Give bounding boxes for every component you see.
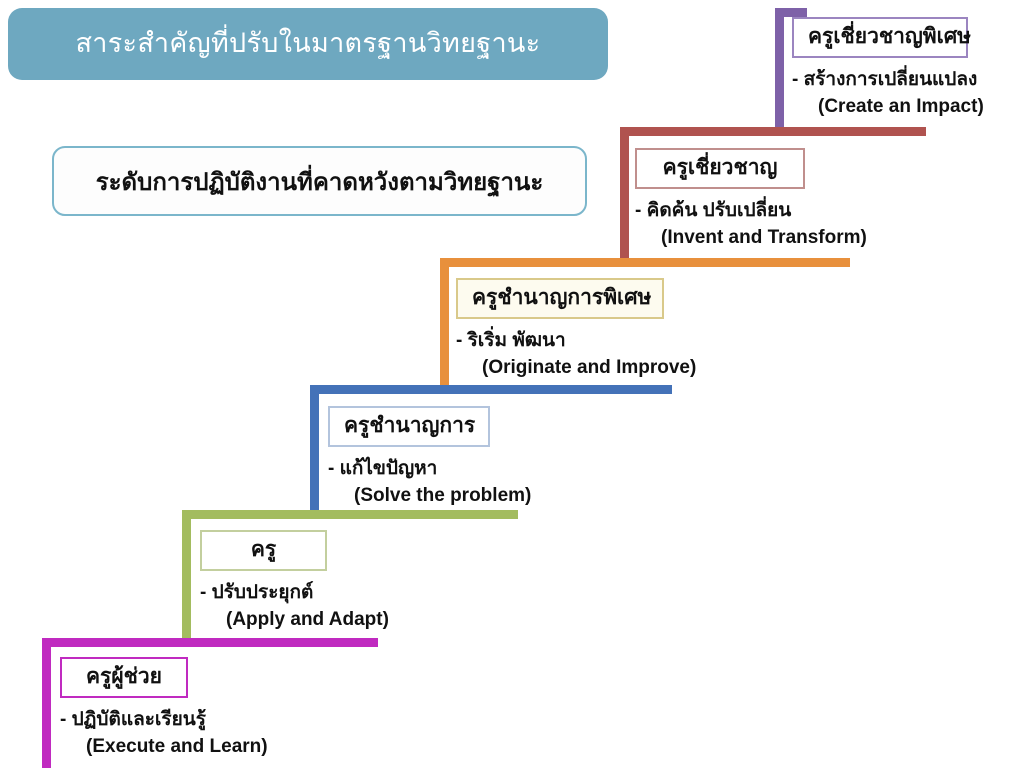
level-chip-2[interactable]: ครู <box>200 530 327 571</box>
page-title: สาระสำคัญที่ปรับในมาตรฐานวิทยฐานะ <box>76 28 541 59</box>
level-block-5: ครูเชี่ยวชาญ - คิดค้น ปรับเปลี่ยน (Inven… <box>635 148 867 252</box>
level-chip-3[interactable]: ครูชำนาญการ <box>328 406 490 447</box>
level-thai-desc-5: - คิดค้น ปรับเปลี่ยน <box>635 198 867 225</box>
step-riser-level-3 <box>310 385 319 515</box>
level-chip-label-1: ครูผู้ช่วย <box>86 665 162 688</box>
level-description-1: - ปฏิบัติและเรียนรู้ (Execute and Learn) <box>60 707 268 761</box>
slide-canvas: สาระสำคัญที่ปรับในมาตรฐานวิทยฐานะ ระดับก… <box>0 0 1024 768</box>
level-block-4: ครูชำนาญการพิเศษ - ริเริ่ม พัฒนา (Origin… <box>456 278 696 382</box>
level-english-desc-6: (Create an Impact) <box>792 94 984 121</box>
step-tread-level-5 <box>620 127 926 136</box>
level-chip-label-2: ครู <box>251 538 276 561</box>
level-description-6: - สร้างการเปลี่ยนแปลง (Create an Impact) <box>792 67 984 121</box>
step-tread-level-1 <box>42 638 378 647</box>
level-thai-desc-2: - ปรับประยุกต์ <box>200 580 389 607</box>
level-description-3: - แก้ไขปัญหา (Solve the problem) <box>328 456 531 510</box>
level-chip-label-6: ครูเชี่ยวชาญพิเศษ <box>808 25 971 48</box>
level-block-6: ครูเชี่ยวชาญพิเศษ - สร้างการเปลี่ยนแปลง … <box>792 17 984 121</box>
level-block-1: ครูผู้ช่วย - ปฏิบัติและเรียนรู้ (Execute… <box>60 657 268 761</box>
level-chip-label-5: ครูเชี่ยวชาญ <box>663 156 778 179</box>
level-block-2: ครู - ปรับประยุกต์ (Apply and Adapt) <box>200 530 389 634</box>
subtitle-box: ระดับการปฏิบัติงานที่คาดหวังตามวิทยฐานะ <box>52 146 587 216</box>
level-chip-6[interactable]: ครูเชี่ยวชาญพิเศษ <box>792 17 968 58</box>
level-english-desc-4: (Originate and Improve) <box>456 355 696 382</box>
step-riser-level-5 <box>620 127 629 262</box>
level-description-4: - ริเริ่ม พัฒนา (Originate and Improve) <box>456 328 696 382</box>
page-title-banner: สาระสำคัญที่ปรับในมาตรฐานวิทยฐานะ <box>8 8 608 80</box>
step-tread-level-6 <box>775 8 807 17</box>
level-chip-1[interactable]: ครูผู้ช่วย <box>60 657 188 698</box>
level-thai-desc-1: - ปฏิบัติและเรียนรู้ <box>60 707 268 734</box>
level-thai-desc-4: - ริเริ่ม พัฒนา <box>456 328 696 355</box>
level-chip-label-4: ครูชำนาญการพิเศษ <box>472 286 651 309</box>
level-chip-label-3: ครูชำนาญการ <box>344 414 475 437</box>
subtitle-text: ระดับการปฏิบัติงานที่คาดหวังตามวิทยฐานะ <box>96 162 543 201</box>
level-english-desc-1: (Execute and Learn) <box>60 734 268 761</box>
step-riser-level-1 <box>42 638 51 768</box>
step-tread-level-3 <box>310 385 672 394</box>
level-description-5: - คิดค้น ปรับเปลี่ยน (Invent and Transfo… <box>635 198 867 252</box>
step-tread-level-4 <box>440 258 850 267</box>
level-chip-5[interactable]: ครูเชี่ยวชาญ <box>635 148 805 189</box>
step-riser-level-4 <box>440 258 449 390</box>
step-tread-level-2 <box>182 510 518 519</box>
level-thai-desc-3: - แก้ไขปัญหา <box>328 456 531 483</box>
level-english-desc-5: (Invent and Transform) <box>635 225 867 252</box>
step-riser-level-2 <box>182 510 191 643</box>
level-english-desc-3: (Solve the problem) <box>328 483 531 510</box>
level-block-3: ครูชำนาญการ - แก้ไขปัญหา (Solve the prob… <box>328 406 531 510</box>
level-description-2: - ปรับประยุกต์ (Apply and Adapt) <box>200 580 389 634</box>
level-english-desc-2: (Apply and Adapt) <box>200 607 389 634</box>
level-chip-4[interactable]: ครูชำนาญการพิเศษ <box>456 278 664 319</box>
level-thai-desc-6: - สร้างการเปลี่ยนแปลง <box>792 67 984 94</box>
step-riser-level-6 <box>775 8 784 132</box>
